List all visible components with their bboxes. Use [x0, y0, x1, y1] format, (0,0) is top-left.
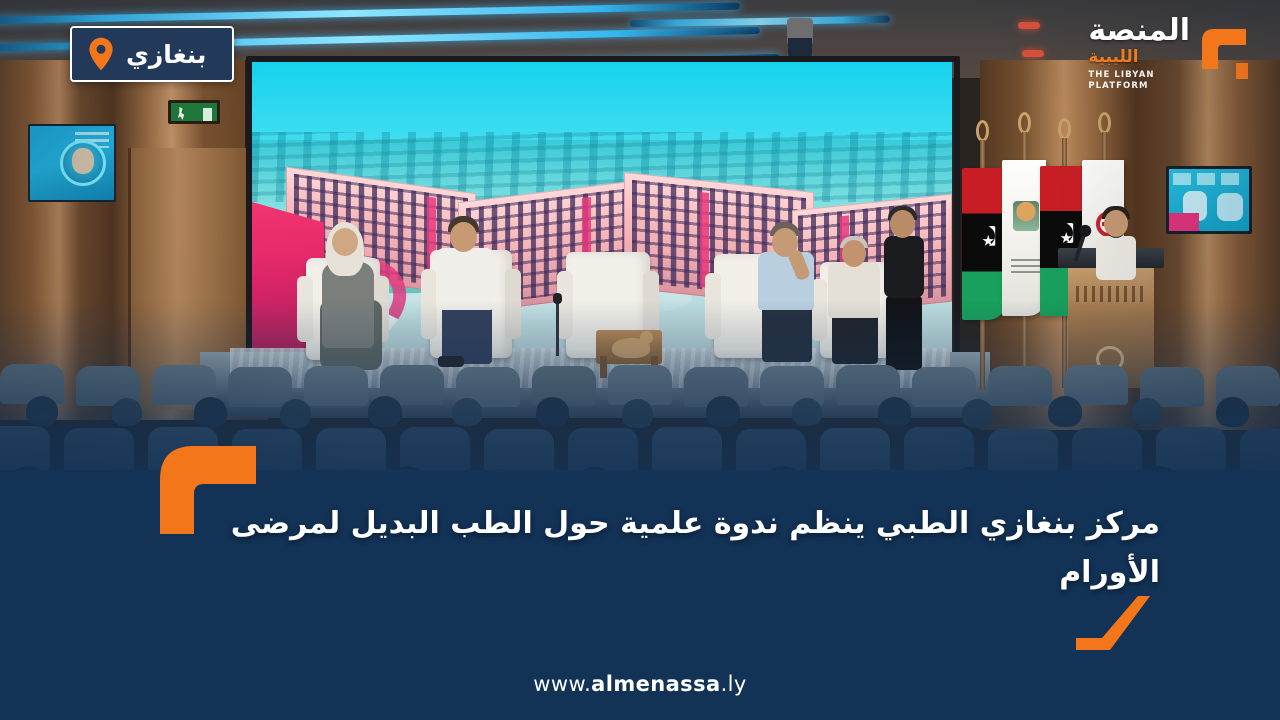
flag-finial [1018, 112, 1031, 134]
url-name: almenassa [591, 672, 720, 696]
flag-finial [976, 120, 989, 142]
right-wall-monitor [1166, 166, 1252, 234]
url-suffix: .ly [721, 672, 747, 696]
stage-microphone [556, 300, 559, 356]
bracket-bottom-right-icon [1076, 596, 1156, 658]
brand-logo[interactable]: المنصة الليبية THE LIBYAN PLATFORM [1088, 16, 1254, 91]
location-badge[interactable]: بنغازي [70, 26, 234, 82]
brand-name-arabic-secondary: الليبية [1088, 46, 1138, 68]
monitor-portrait-face [72, 148, 94, 174]
headline-block: مركز بنغازي الطبي ينظم ندوة علمية حول ال… [150, 500, 1160, 597]
brand-bracket-icon [1196, 23, 1254, 85]
exit-sign [168, 100, 220, 124]
news-card: بنغازي المنصة الليبية THE LIBYAN PLATFOR… [0, 0, 1280, 720]
ceiling-led-strip [0, 3, 740, 25]
podium-nameplate [1076, 286, 1146, 302]
brand-name-arabic: المنصة [1088, 16, 1190, 46]
site-url[interactable]: www.almenassa.ly [0, 672, 1280, 696]
brand-en-line1: THE LIBYAN [1088, 70, 1154, 80]
speaker-at-podium [1094, 210, 1138, 270]
brand-name-english: THE LIBYAN PLATFORM [1088, 70, 1154, 91]
brand-en-line2: PLATFORM [1088, 81, 1148, 91]
url-prefix: www. [533, 672, 591, 696]
brand-wordmark: المنصة الليبية THE LIBYAN PLATFORM [1088, 16, 1190, 91]
ceiling-red-light [1022, 50, 1044, 57]
map-pin-icon [88, 37, 114, 71]
walking-attendee [882, 210, 928, 370]
location-label: بنغازي [126, 42, 206, 67]
ceiling-led-strip [630, 16, 890, 28]
ceiling-red-light [1018, 22, 1040, 29]
flag-finial [1098, 112, 1111, 134]
page-title: مركز بنغازي الطبي ينظم ندوة علمية حول ال… [150, 500, 1160, 597]
flag-finial [1058, 118, 1071, 140]
dome-camera-icon [787, 18, 813, 44]
libya-flag [962, 168, 1006, 320]
left-wall-monitor [28, 124, 116, 202]
